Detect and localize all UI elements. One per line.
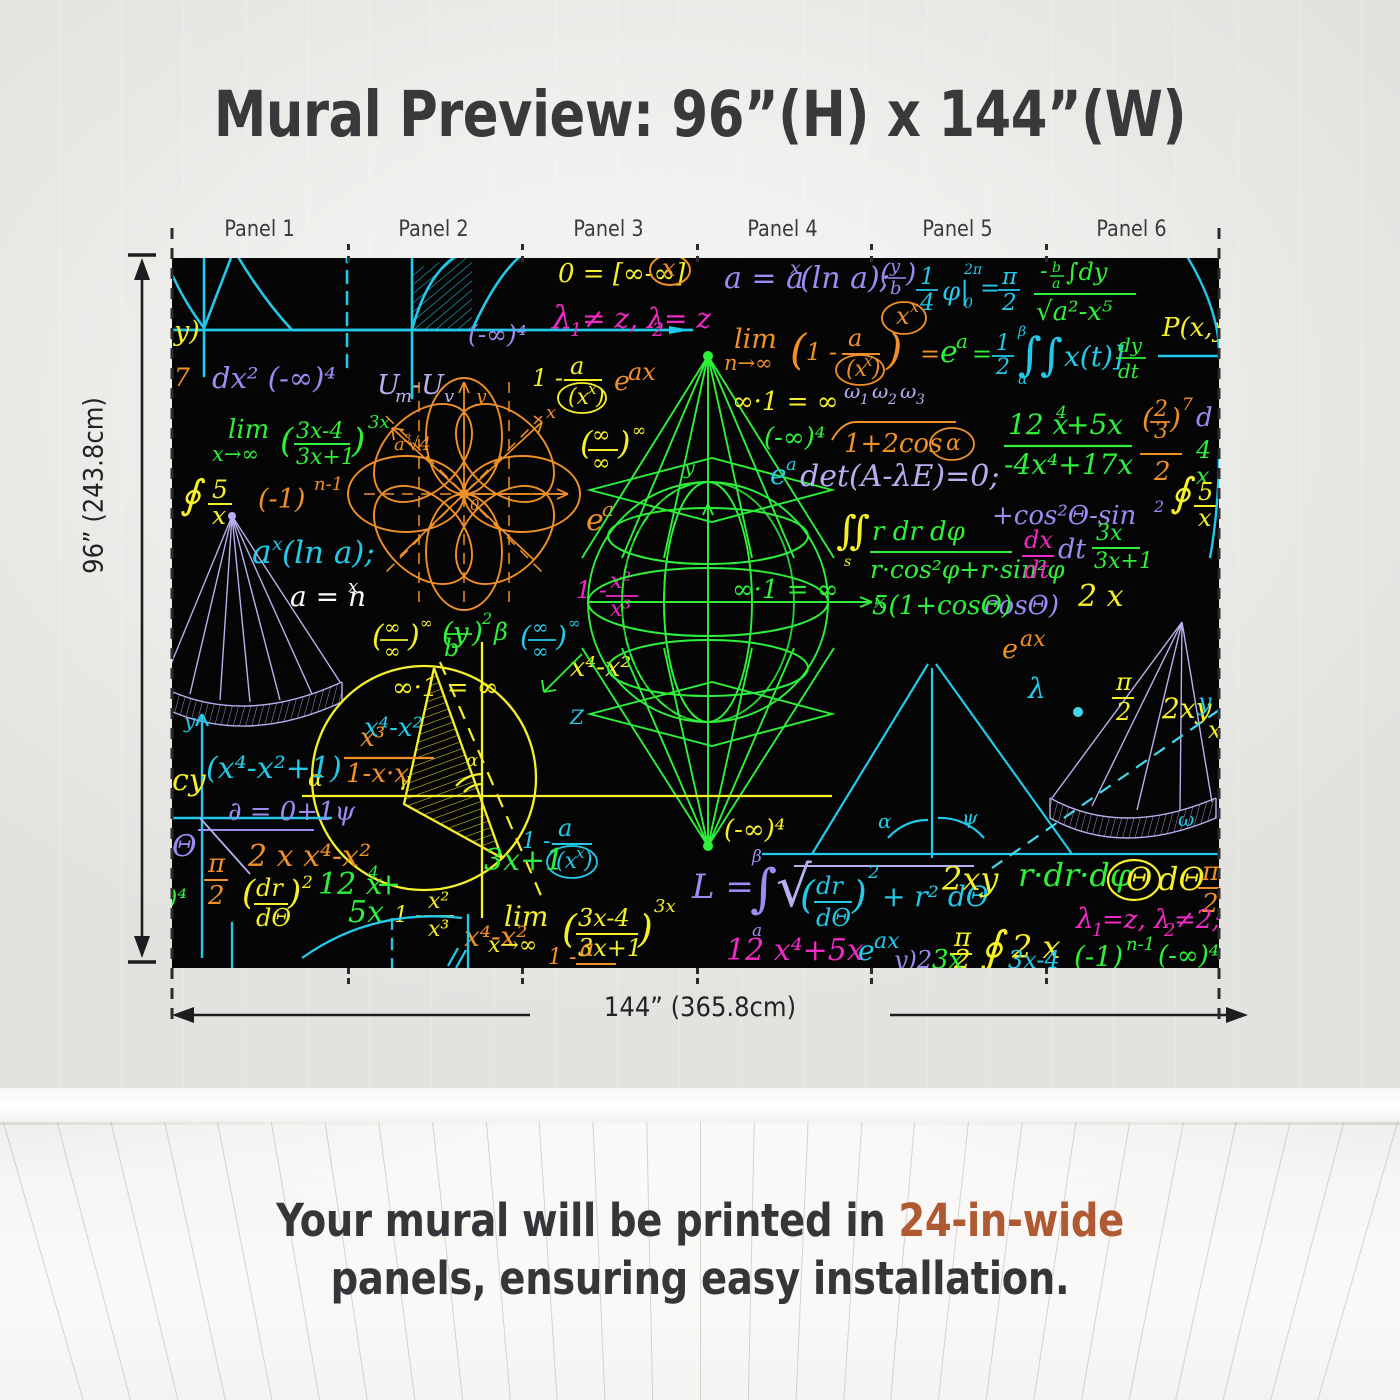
svg-text:3: 3 (1154, 419, 1168, 444)
svg-text:ψ: ψ (962, 805, 978, 829)
svg-text:∞: ∞ (568, 614, 581, 632)
panel-label-6: Panel 6 (1049, 216, 1215, 242)
svg-text:dt: dt (1024, 556, 1049, 584)
svg-text:1: 1 (570, 319, 582, 341)
svg-text:2: 2 (651, 319, 664, 341)
svg-text:∞: ∞ (384, 615, 401, 639)
mural-preview-image[interactable]: .f { font-family:"DejaVu Serif",serif; f… (172, 258, 1219, 968)
svg-text:5: 5 (1198, 478, 1213, 506)
svg-text:ax: ax (1020, 627, 1046, 652)
svg-text:-4x⁴+17x: -4x⁴+17x (1004, 448, 1133, 481)
svg-text:y: y (683, 457, 695, 479)
panel-label-2: Panel 2 (351, 216, 517, 242)
svg-text:dy: dy (1118, 333, 1143, 357)
svg-text:∫: ∫ (1040, 330, 1063, 381)
svg-text:2: 2 (887, 392, 897, 408)
svg-text:α: α (1018, 372, 1028, 388)
svg-text:y: y (889, 258, 901, 277)
svg-text:dΘ: dΘ (256, 904, 291, 932)
svg-text:dx² (-∞)⁴: dx² (-∞)⁴ (212, 361, 336, 395)
svg-text:3x-4: 3x-4 (1008, 946, 1060, 968)
svg-text:m: m (395, 386, 412, 407)
svg-text:1: 1 (860, 392, 869, 408)
svg-text:2: 2 (1115, 698, 1131, 726)
svg-text:x→∞: x→∞ (212, 442, 259, 466)
svg-text:x³: x³ (360, 723, 385, 753)
svg-text:∞: ∞ (384, 639, 401, 663)
svg-text:λ: λ (1027, 672, 1046, 705)
svg-text:n-1: n-1 (1126, 934, 1155, 955)
panel-label-4: Panel 4 (700, 216, 866, 242)
svg-text:): ) (1169, 402, 1181, 435)
svg-text:ω: ω (844, 379, 860, 403)
svg-text:=: = (980, 274, 1000, 302)
svg-text:1: 1 (996, 331, 1010, 356)
svg-text:β: β (493, 618, 508, 646)
svg-text:∫dy: ∫dy (1066, 258, 1108, 286)
panel-divider-tick-3 (696, 968, 699, 984)
svg-text:1: 1 (920, 264, 935, 290)
svg-text:dr: dr (256, 874, 284, 902)
svg-text:y: y (475, 386, 487, 407)
svg-text:2: 2 (1153, 497, 1164, 516)
svg-text:β: β (1017, 324, 1026, 340)
svg-text:dt: dt (1118, 359, 1140, 383)
svg-text:x(t)]: x(t)] (1064, 340, 1124, 373)
svg-text:1-x·x: 1-x·x (346, 759, 409, 789)
svg-text:ax: ax (628, 358, 656, 386)
svg-text:): ) (637, 907, 653, 951)
svg-text:∞·1 = ∞: ∞·1 = ∞ (732, 387, 838, 417)
svg-text:x: x (896, 302, 910, 330)
footer-line-1-prefix: Your mural will be printed in (276, 1194, 898, 1247)
panel-divider-tick-4 (870, 244, 873, 262)
panel-divider-tick-2 (521, 244, 524, 262)
svg-text:4: 4 (919, 290, 935, 316)
svg-text:2 x: 2 x (1077, 579, 1124, 614)
svg-text:= z: = z (664, 302, 711, 335)
svg-text:=: = (972, 340, 992, 368)
svg-text:π: π (1001, 264, 1018, 290)
svg-text:=z, λ: =z, λ (1102, 905, 1171, 935)
svg-text:∬: ∬ (836, 508, 870, 554)
footer-highlight: 24-in-wide (898, 1194, 1123, 1247)
svg-text:dx: dx (1024, 526, 1053, 554)
svg-text:(: ( (280, 421, 294, 461)
panel-divider-tick-5 (1045, 244, 1048, 262)
svg-text:(: ( (520, 620, 532, 653)
svg-text:e: e (858, 934, 875, 967)
svg-text:): ) (851, 873, 867, 917)
svg-text:): ) (351, 421, 365, 461)
svg-text:7: 7 (1182, 395, 1193, 415)
svg-text:∞: ∞ (632, 421, 646, 441)
svg-text:2xy: 2xy (941, 860, 999, 898)
svg-text:b: b (444, 634, 459, 662)
svg-text:y: y (183, 709, 196, 733)
svg-text:3x+1: 3x+1 (296, 445, 355, 470)
svg-text:3x+1: 3x+1 (484, 843, 564, 878)
svg-text:(ln a);: (ln a); (282, 535, 375, 571)
svg-text:(: ( (1142, 402, 1154, 435)
svg-text:x: x (662, 258, 676, 282)
svg-text:λ: λ (550, 298, 572, 336)
panel-divider-tick-4 (870, 968, 873, 984)
svg-text:e: e (1002, 634, 1018, 665)
svg-text:∂ = 0+1ψ: ∂ = 0+1ψ (228, 797, 356, 827)
svg-text:det(A-λE)=0;: det(A-λE)=0; (800, 459, 999, 494)
svg-text:x²: x² (428, 889, 449, 914)
svg-text:3x+1: 3x+1 (1094, 549, 1153, 574)
panel-label-3: Panel 3 (525, 216, 691, 242)
svg-text:3: 3 (916, 392, 925, 408)
svg-text:3x: 3x (368, 412, 390, 433)
svg-text:2: 2 (301, 873, 313, 893)
svg-text:1 -: 1 - (394, 903, 422, 928)
svg-text:a: a (956, 329, 968, 353)
svg-text:5x: 5x (348, 895, 384, 930)
svg-text:b: b (890, 278, 902, 299)
footer-line-1: Your mural will be printed in 24-in-wide (35, 1192, 1365, 1250)
svg-text:2: 2 (481, 609, 492, 628)
svg-text:0: 0 (964, 296, 973, 312)
svg-text:n-1: n-1 (314, 474, 343, 495)
svg-text:): ) (407, 619, 420, 654)
svg-text:≠2;: ≠2; (1174, 905, 1219, 935)
svg-text:(ln a);: (ln a); (800, 261, 890, 296)
svg-text:ω: ω (872, 379, 888, 403)
svg-text:(: ( (800, 873, 816, 917)
footer-line-2: panels, ensuring easy installation. (35, 1250, 1365, 1308)
svg-text:π: π (1201, 857, 1219, 887)
svg-text:1 -: 1 - (806, 338, 837, 366)
svg-text:lim: lim (228, 415, 269, 445)
svg-text:3x: 3x (932, 945, 964, 968)
svg-text:(-1): (-1) (258, 484, 305, 515)
svg-text:(-∞)⁴: (-∞)⁴ (468, 320, 527, 349)
svg-text:α: α (466, 750, 478, 771)
svg-text:2: 2 (995, 355, 1010, 380)
svg-text:L =: L = (691, 867, 754, 907)
svg-text:x: x (212, 501, 226, 530)
svg-text:2: 2 (1001, 290, 1017, 316)
svg-text:): ) (555, 620, 567, 653)
svg-text:√4: √4 (408, 434, 431, 455)
svg-text:2: 2 (867, 862, 879, 883)
svg-text:π: π (207, 849, 226, 879)
svg-text:x: x (348, 576, 358, 597)
svg-text:x→∞: x→∞ (488, 933, 537, 958)
svg-text:π: π (1115, 668, 1133, 696)
svg-text:a: a (580, 934, 594, 962)
svg-text:-U: -U (412, 370, 445, 401)
svg-text:∞·1 = ∞: ∞·1 = ∞ (732, 575, 838, 605)
svg-text:(x: (x (568, 385, 590, 410)
panel-divider-tick-1 (347, 968, 350, 984)
svg-text:∞: ∞ (420, 614, 433, 632)
svg-text:(: ( (242, 873, 256, 913)
svg-text:): ) (905, 259, 916, 289)
svg-text:x³: x³ (428, 917, 449, 942)
svg-text:): ) (617, 424, 630, 462)
svg-text:∞: ∞ (592, 423, 610, 448)
svg-text:s: s (844, 554, 851, 570)
svg-text:4: 4 (1195, 436, 1211, 464)
svg-text:a: a (558, 814, 572, 842)
svg-text:√a²-x⁵: √a²-x⁵ (1036, 297, 1113, 327)
svg-text:x³: x³ (610, 597, 631, 622)
svg-text:1 -: 1 - (548, 945, 576, 968)
svg-text:dt: dt (1058, 534, 1086, 565)
svg-text:α: α (946, 431, 961, 456)
svg-text:1 -: 1 - (532, 364, 563, 392)
svg-text:P(x,y): P(x,y) (1161, 313, 1219, 343)
svg-text:3x: 3x (1096, 521, 1123, 546)
svg-text:x: x (1208, 716, 1219, 744)
svg-text:∞: ∞ (532, 639, 549, 663)
panel-divider-tick-3 (696, 244, 699, 262)
width-dimension-label: 144” (365.8cm) (0, 992, 1400, 1023)
svg-text:∫: ∫ (750, 859, 777, 919)
svg-text:(-∞)⁴: (-∞)⁴ (724, 815, 785, 845)
svg-text:lim: lim (504, 900, 548, 933)
svg-text:dr: dr (816, 872, 844, 900)
panel-divider-tick-1 (347, 244, 350, 262)
svg-text:2: 2 (207, 881, 225, 911)
svg-text:y)2: y)2 (893, 946, 932, 968)
panel-divider-tick-5 (1045, 968, 1048, 984)
panel-label-5: Panel 5 (874, 216, 1040, 242)
height-dimension-arrow (108, 250, 178, 1010)
svg-text:ω: ω (1178, 807, 1194, 831)
svg-text:r·dr·dφ: r·dr·dφ (1018, 856, 1133, 894)
svg-text:3x: 3x (654, 896, 676, 917)
svg-text:5(1+cosΘ): 5(1+cosΘ) (872, 591, 1012, 621)
svg-text:(-1): (-1) (1074, 940, 1123, 968)
svg-text:12 x⁴+5x: 12 x⁴+5x (726, 933, 864, 968)
svg-text:b: b (1052, 260, 1061, 276)
svg-text:r dr dφ: r dr dφ (872, 517, 966, 547)
page-title: Mural Preview: 96”(H) x 144”(W) (49, 78, 1351, 151)
svg-text:d: d (1196, 403, 1213, 433)
svg-text:α: α (878, 809, 892, 833)
svg-text:a: a (848, 324, 862, 352)
svg-text:x: x (546, 402, 556, 423)
svg-text:n→∞: n→∞ (724, 351, 773, 375)
svg-text:-: - (1040, 259, 1047, 284)
svg-text:1 -: 1 - (576, 576, 607, 604)
svg-text:a: a (570, 352, 584, 380)
svg-text:dΘ: dΘ (816, 904, 851, 932)
svg-text:+5x: +5x (1066, 408, 1123, 441)
svg-text:∞: ∞ (532, 615, 549, 639)
svg-text:dΘ: dΘ (1158, 860, 1205, 898)
svg-text:2: 2 (1153, 457, 1171, 487)
svg-text:): ) (287, 873, 301, 913)
svg-text:(x⁴-x²+1): (x⁴-x²+1) (206, 751, 342, 786)
svg-text:ω: ω (900, 379, 916, 403)
panel-divider-tick-2 (521, 968, 524, 984)
svg-text:Θ: Θ (1126, 860, 1152, 898)
svg-text:a: a (786, 454, 797, 475)
svg-text:3x-4: 3x-4 (296, 419, 343, 444)
height-dimension-label: 96” (243.8cm) (79, 341, 110, 631)
svg-text:y: y (1197, 688, 1212, 716)
svg-text:(-∞)⁴: (-∞)⁴ (1158, 941, 1219, 968)
svg-text:x: x (1198, 504, 1212, 532)
svg-text:1+2cos: 1+2cos (844, 429, 942, 459)
svg-text:Z: Z (569, 705, 585, 729)
svg-text:β: β (751, 847, 762, 867)
svg-text:e: e (770, 458, 787, 491)
svg-text:3x-4: 3x-4 (578, 904, 630, 932)
svg-text:=: = (920, 340, 940, 368)
svg-text:∞: ∞ (592, 451, 610, 476)
svg-text:(-∞)⁴: (-∞)⁴ (764, 423, 825, 453)
svg-text:0: 0 (470, 496, 480, 514)
panel-label-1: Panel 1 (176, 216, 342, 242)
svg-text:λ: λ (1075, 902, 1094, 935)
footer-note: Your mural will be printed in 24-in-wide… (35, 1192, 1365, 1308)
svg-text:5: 5 (212, 475, 228, 504)
svg-text:a: a (1052, 276, 1060, 292)
